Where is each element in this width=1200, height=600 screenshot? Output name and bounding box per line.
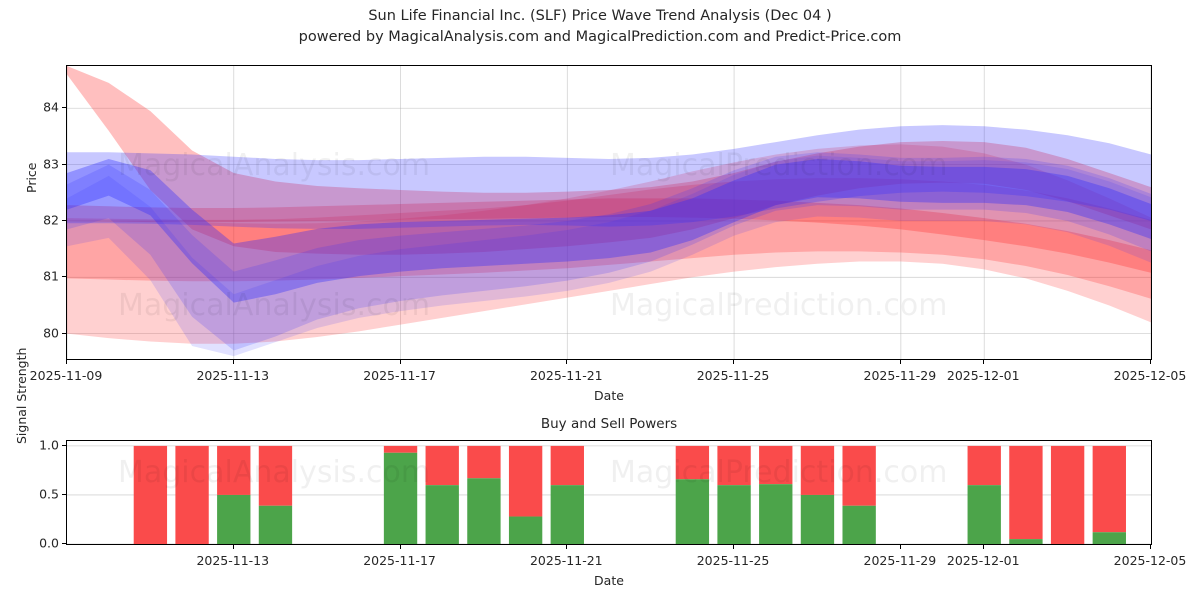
signal-bar-buy xyxy=(1093,532,1126,544)
price-y-tick-mark xyxy=(62,333,66,334)
price-y-axis-label: Price xyxy=(24,163,39,194)
signal-bar-sell xyxy=(759,446,792,484)
signal-y-tick: 0.0 xyxy=(39,536,59,551)
signal-bar-buy xyxy=(968,485,1001,544)
signal-bar xyxy=(384,446,417,544)
signal-bar-buy xyxy=(717,485,750,544)
signal-bar-sell xyxy=(217,446,250,495)
signal-bar xyxy=(1009,446,1042,544)
signal-y-tick-mark xyxy=(62,543,66,544)
signal-bar xyxy=(968,446,1001,544)
signal-bar xyxy=(842,446,875,544)
price-x-tick-mark xyxy=(400,360,401,364)
signal-bar-buy xyxy=(259,506,292,544)
signal-x-tick-mark xyxy=(400,545,401,549)
signal-bar-sell xyxy=(676,446,709,479)
signal-x-tick-mark xyxy=(983,545,984,549)
signal-bar xyxy=(426,446,459,544)
signal-bar-buy xyxy=(467,478,500,544)
page-title: Sun Life Financial Inc. (SLF) Price Wave… xyxy=(0,6,1200,27)
chart-title-block: Sun Life Financial Inc. (SLF) Price Wave… xyxy=(0,6,1200,48)
price-x-tick: 2025-11-13 xyxy=(196,368,269,383)
signal-bar-buy xyxy=(801,495,834,544)
signal-bar xyxy=(217,446,250,544)
signal-bar-sell xyxy=(134,446,167,544)
price-x-tick-mark xyxy=(983,360,984,364)
price-x-axis-label: Date xyxy=(66,388,1152,403)
signal-x-tick: 2025-12-01 xyxy=(947,553,1020,568)
price-x-tick-mark xyxy=(1150,360,1151,364)
signal-bar-sell xyxy=(842,446,875,506)
signal-bar-buy xyxy=(384,453,417,544)
price-y-tick-mark xyxy=(62,107,66,108)
price-y-tick: 83 xyxy=(43,156,59,171)
signal-bar xyxy=(801,446,834,544)
price-x-tick-mark xyxy=(733,360,734,364)
price-x-tick-mark xyxy=(233,360,234,364)
signal-bar-buy xyxy=(551,485,584,544)
price-x-tick: 2025-11-21 xyxy=(530,368,603,383)
price-wave-bands xyxy=(67,66,1151,359)
signal-bar xyxy=(259,446,292,544)
signal-bar-sell xyxy=(509,446,542,517)
signal-x-axis-label: Date xyxy=(66,573,1152,588)
signal-x-tick-mark xyxy=(733,545,734,549)
signal-bar xyxy=(467,446,500,544)
price-y-tick: 80 xyxy=(43,325,59,340)
signal-x-tick: 2025-11-29 xyxy=(864,553,937,568)
price-y-tick-mark xyxy=(62,164,66,165)
price-x-tick: 2025-11-17 xyxy=(363,368,436,383)
signal-x-tick-mark xyxy=(1150,545,1151,549)
signal-bar-sell xyxy=(259,446,292,506)
signal-bar-sell xyxy=(1009,446,1042,539)
price-y-tick: 84 xyxy=(43,100,59,115)
signal-y-tick-mark xyxy=(62,494,66,495)
signal-bar-buy xyxy=(1009,539,1042,544)
signal-bar-sell xyxy=(1093,446,1126,532)
signal-y-tick: 0.5 xyxy=(39,486,59,501)
signal-bar-buy xyxy=(217,495,250,544)
signal-bar-sell xyxy=(467,446,500,478)
price-x-tick: 2025-12-01 xyxy=(947,368,1020,383)
signal-bar xyxy=(509,446,542,544)
price-y-tick-mark xyxy=(62,220,66,221)
signal-bar-buy xyxy=(426,485,459,544)
signal-y-axis-label: Signal Strength xyxy=(14,348,29,444)
signal-bar-sell xyxy=(175,446,208,544)
signal-bar xyxy=(676,446,709,544)
signal-bar xyxy=(759,446,792,544)
signal-x-tick-mark xyxy=(566,545,567,549)
price-x-tick-mark xyxy=(566,360,567,364)
signal-bar-buy xyxy=(676,479,709,544)
signal-x-tick: 2025-11-13 xyxy=(196,553,269,568)
signal-bar-buy xyxy=(842,506,875,544)
signal-bar xyxy=(551,446,584,544)
signal-bar xyxy=(1093,446,1126,544)
signal-y-tick-mark xyxy=(62,445,66,446)
signal-bar-buy xyxy=(509,517,542,544)
price-y-tick: 82 xyxy=(43,212,59,227)
price-x-tick-mark xyxy=(66,360,67,364)
signal-bars xyxy=(67,441,1151,544)
signal-bar xyxy=(134,446,167,544)
signal-bar xyxy=(175,446,208,544)
signal-bar-sell xyxy=(968,446,1001,485)
price-plot-area xyxy=(66,65,1152,360)
signal-x-tick-mark xyxy=(233,545,234,549)
signal-bar-sell xyxy=(717,446,750,485)
signal-bar-sell xyxy=(1051,446,1084,544)
signal-chart-axes: Buy and Sell Powers Signal Strength Date… xyxy=(66,440,1152,545)
signal-bar-sell xyxy=(551,446,584,485)
signal-bar-buy xyxy=(759,484,792,544)
signal-bar-sell xyxy=(801,446,834,495)
signal-bar xyxy=(717,446,750,544)
chart-page: Sun Life Financial Inc. (SLF) Price Wave… xyxy=(0,0,1200,600)
signal-x-tick-mark xyxy=(900,545,901,549)
page-subtitle: powered by MagicalAnalysis.com and Magic… xyxy=(0,27,1200,48)
signal-bar-sell xyxy=(426,446,459,485)
signal-chart-title: Buy and Sell Powers xyxy=(66,416,1152,432)
signal-x-tick: 2025-11-21 xyxy=(530,553,603,568)
price-chart-axes: Price Date 80818283842025-11-092025-11-1… xyxy=(66,65,1152,360)
signal-bar-sell xyxy=(384,446,417,453)
price-x-tick: 2025-11-29 xyxy=(864,368,937,383)
price-x-tick: 2025-11-25 xyxy=(697,368,770,383)
signal-y-tick: 1.0 xyxy=(39,437,59,452)
signal-bar xyxy=(1051,446,1084,544)
signal-x-tick: 2025-12-05 xyxy=(1114,553,1187,568)
price-y-tick: 81 xyxy=(43,269,59,284)
price-x-tick: 2025-12-05 xyxy=(1114,368,1187,383)
signal-x-tick: 2025-11-17 xyxy=(363,553,436,568)
price-x-tick-mark xyxy=(900,360,901,364)
signal-x-tick: 2025-11-25 xyxy=(697,553,770,568)
price-x-tick: 2025-11-09 xyxy=(30,368,103,383)
signal-plot-area xyxy=(66,440,1152,545)
price-y-tick-mark xyxy=(62,276,66,277)
